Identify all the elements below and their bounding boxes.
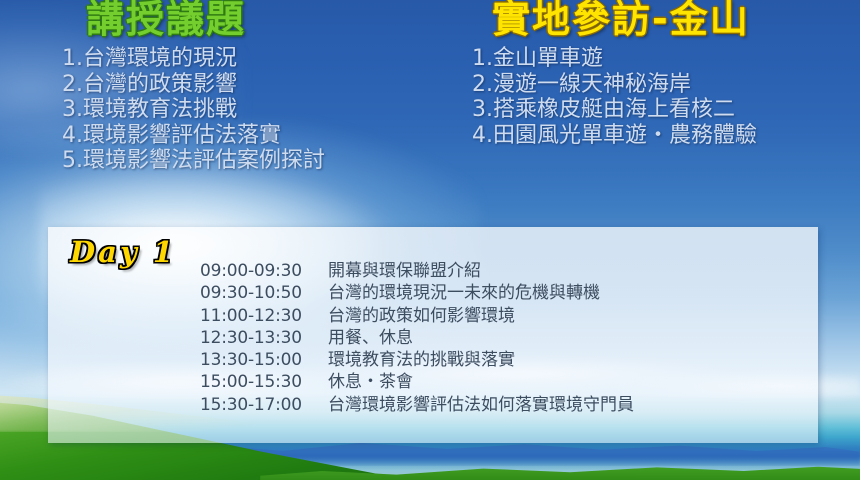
schedule-time: 09:30-10:50 bbox=[200, 282, 328, 304]
table-row: 13:30-15:00環境教育法的挑戰與落實 bbox=[200, 349, 634, 371]
schedule-topic: 用餐、休息 bbox=[328, 328, 413, 348]
list-item: 1.台灣環境的現況 bbox=[62, 46, 325, 72]
schedule-time: 09:00-09:30 bbox=[200, 260, 328, 282]
list-item: 2.台灣的政策影響 bbox=[62, 72, 325, 98]
lecture-topics-list: 1.台灣環境的現況 2.台灣的政策影響 3.環境教育法挑戰 4.環境影響評估法落… bbox=[62, 46, 325, 174]
table-row: 11:00-12:30台灣的政策如何影響環境 bbox=[200, 305, 634, 327]
slide-headings: 講授議題 實地參訪-金山 bbox=[0, 0, 860, 40]
schedule-topic: 開幕與環保聯盟介紹 bbox=[328, 261, 481, 281]
schedule-panel: Day 1 09:00-09:30開幕與環保聯盟介紹 09:30-10:50台灣… bbox=[48, 227, 818, 443]
table-row: 12:30-13:30用餐、休息 bbox=[200, 327, 634, 349]
table-row: 15:00-15:30休息・茶會 bbox=[200, 371, 634, 393]
day-label: Day 1 bbox=[70, 235, 176, 269]
schedule-time: 12:30-13:30 bbox=[200, 327, 328, 349]
list-item: 2.漫遊一線天神秘海岸 bbox=[472, 72, 757, 98]
list-item: 4.田園風光單車遊・農務體驗 bbox=[472, 123, 757, 149]
schedule-topic: 環境教育法的挑戰與落實 bbox=[328, 350, 515, 370]
schedule-time: 11:00-12:30 bbox=[200, 305, 328, 327]
table-row: 09:00-09:30開幕與環保聯盟介紹 bbox=[200, 260, 634, 282]
list-item: 4.環境影響評估法落實 bbox=[62, 123, 325, 149]
table-row: 15:30-17:00台灣環境影響評估法如何落實環境守門員 bbox=[200, 394, 634, 416]
heading-field-visit: 實地參訪-金山 bbox=[492, 0, 750, 43]
schedule-time: 15:00-15:30 bbox=[200, 371, 328, 393]
field-visit-list: 1.金山單車遊 2.漫遊一線天神秘海岸 3.搭乘橡皮艇由海上看核二 4.田園風光… bbox=[472, 46, 757, 148]
schedule-topic: 台灣的政策如何影響環境 bbox=[328, 306, 515, 326]
schedule-time: 15:30-17:00 bbox=[200, 394, 328, 416]
list-item: 5.環境影響法評估案例探討 bbox=[62, 148, 325, 174]
schedule-rows: 09:00-09:30開幕與環保聯盟介紹 09:30-10:50台灣的環境現況一… bbox=[200, 260, 634, 416]
schedule-topic: 台灣環境影響評估法如何落實環境守門員 bbox=[328, 395, 634, 415]
list-item: 1.金山單車遊 bbox=[472, 46, 757, 72]
list-item: 3.搭乘橡皮艇由海上看核二 bbox=[472, 97, 757, 123]
schedule-topic: 台灣的環境現況一未來的危機與轉機 bbox=[328, 283, 600, 303]
schedule-time: 13:30-15:00 bbox=[200, 349, 328, 371]
slide-canvas: 講授議題 實地參訪-金山 1.台灣環境的現況 2.台灣的政策影響 3.環境教育法… bbox=[0, 0, 860, 480]
list-item: 3.環境教育法挑戰 bbox=[62, 97, 325, 123]
table-row: 09:30-10:50台灣的環境現況一未來的危機與轉機 bbox=[200, 282, 634, 304]
heading-lecture-topics: 講授議題 bbox=[86, 0, 246, 43]
schedule-topic: 休息・茶會 bbox=[328, 372, 413, 392]
